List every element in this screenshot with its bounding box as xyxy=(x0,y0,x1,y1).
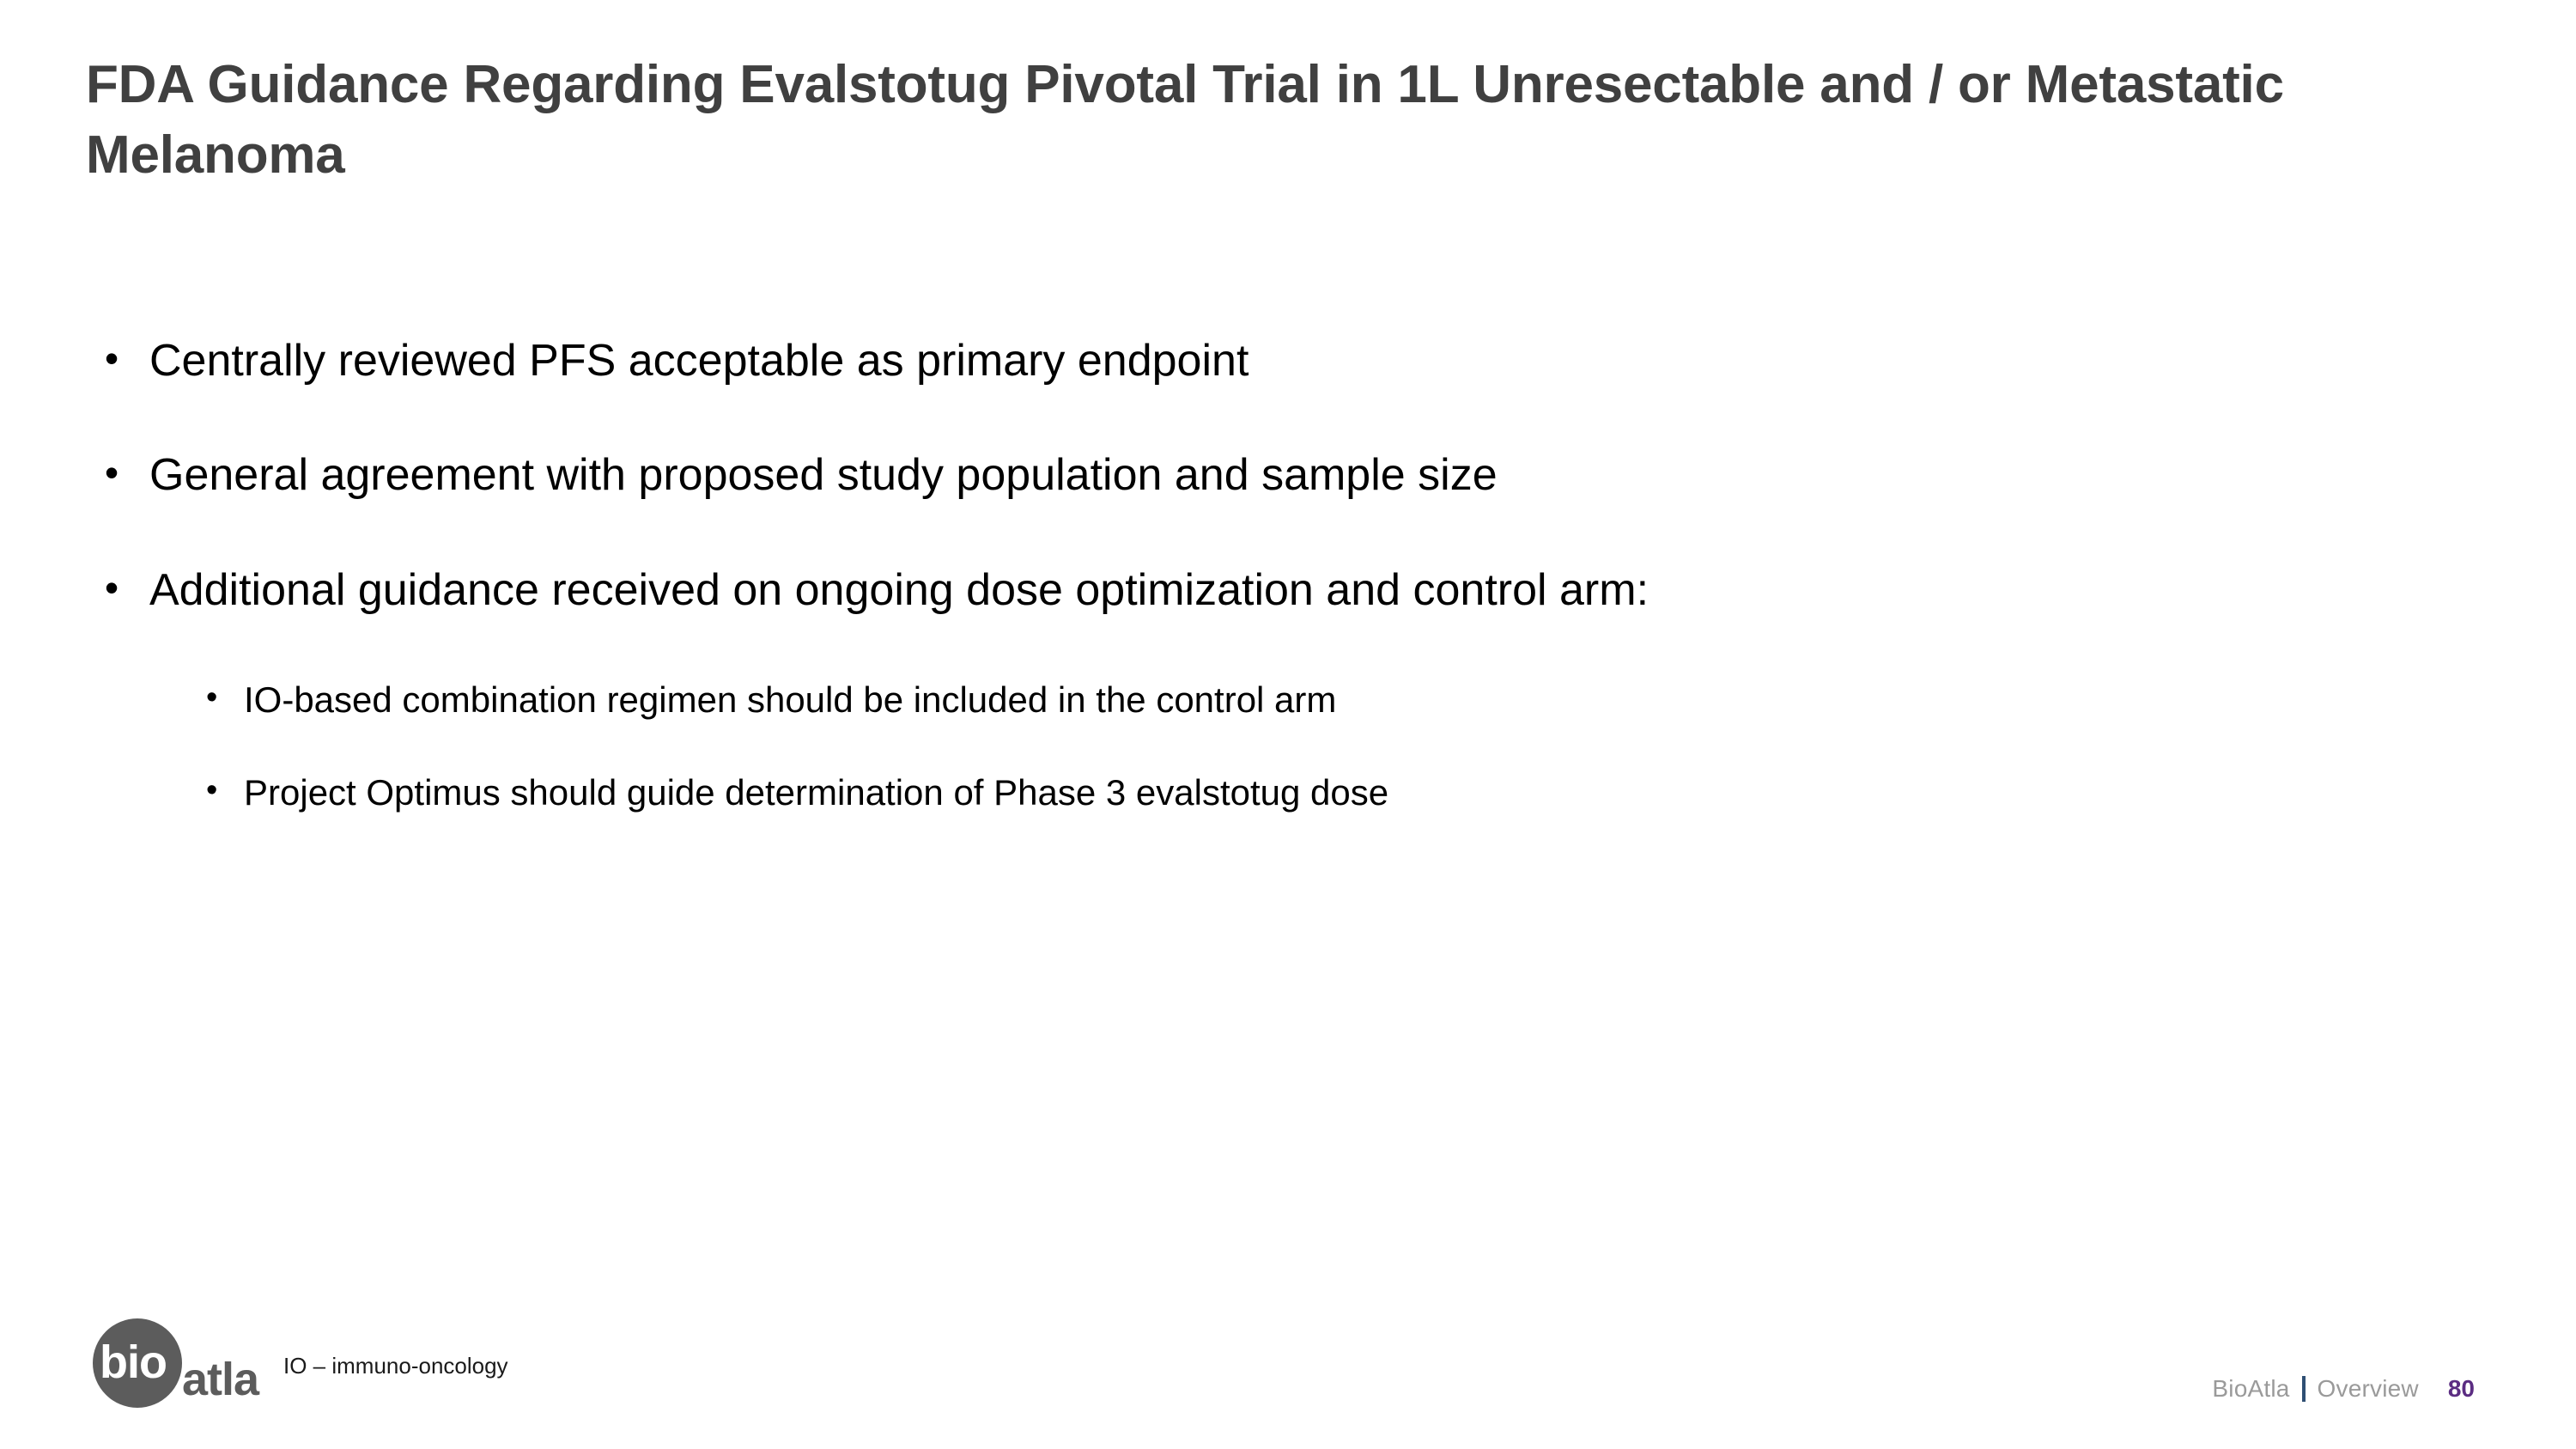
logo-bio-text: bio xyxy=(100,1339,167,1385)
list-item: • Project Optimus should guide determina… xyxy=(86,771,2404,814)
list-item: • Additional guidance received on ongoin… xyxy=(86,564,2404,617)
bullet-icon: • xyxy=(206,679,244,717)
list-item: • IO-based combination regimen should be… xyxy=(86,679,2404,721)
bullet-list: • Centrally reviewed PFS acceptable as p… xyxy=(86,335,2404,863)
list-item: • Centrally reviewed PFS acceptable as p… xyxy=(86,335,2404,387)
list-item-label: General agreement with proposed study po… xyxy=(149,449,2404,502)
bullet-icon: • xyxy=(105,449,149,496)
slide-footer: bio atla IO – immuno-oncology BioAtla Ov… xyxy=(0,1320,2576,1449)
footer-section-label: Overview xyxy=(2318,1375,2419,1403)
title-block: FDA Guidance Regarding Evalstotug Pivota… xyxy=(86,50,2353,192)
slide: FDA Guidance Regarding Evalstotug Pivota… xyxy=(0,0,2576,1449)
page-title: FDA Guidance Regarding Evalstotug Pivota… xyxy=(86,50,2353,192)
bullet-icon: • xyxy=(206,771,244,810)
list-item-label: Centrally reviewed PFS acceptable as pri… xyxy=(149,335,2404,387)
list-item: • General agreement with proposed study … xyxy=(86,449,2404,502)
footer-company-label: BioAtla xyxy=(2212,1375,2289,1403)
bioatla-logo: bio atla IO – immuno-oncology xyxy=(93,1318,508,1415)
list-item-label: Additional guidance received on ongoing … xyxy=(149,564,2404,617)
footer-divider-icon xyxy=(2302,1376,2306,1402)
logo-atla-text: atla xyxy=(182,1356,258,1403)
list-item-label: Project Optimus should guide determinati… xyxy=(244,771,2404,814)
list-item-label: IO-based combination regimen should be i… xyxy=(244,679,2404,721)
logo-icon: bio atla xyxy=(93,1318,189,1415)
page-number: 80 xyxy=(2448,1375,2475,1403)
bullet-icon: • xyxy=(105,335,149,381)
bullet-icon: • xyxy=(105,564,149,611)
footer-meta: BioAtla Overview 80 xyxy=(2212,1375,2475,1403)
sub-bullet-list: • IO-based combination regimen should be… xyxy=(86,679,2404,813)
footnote-label: IO – immuno-oncology xyxy=(283,1353,508,1381)
